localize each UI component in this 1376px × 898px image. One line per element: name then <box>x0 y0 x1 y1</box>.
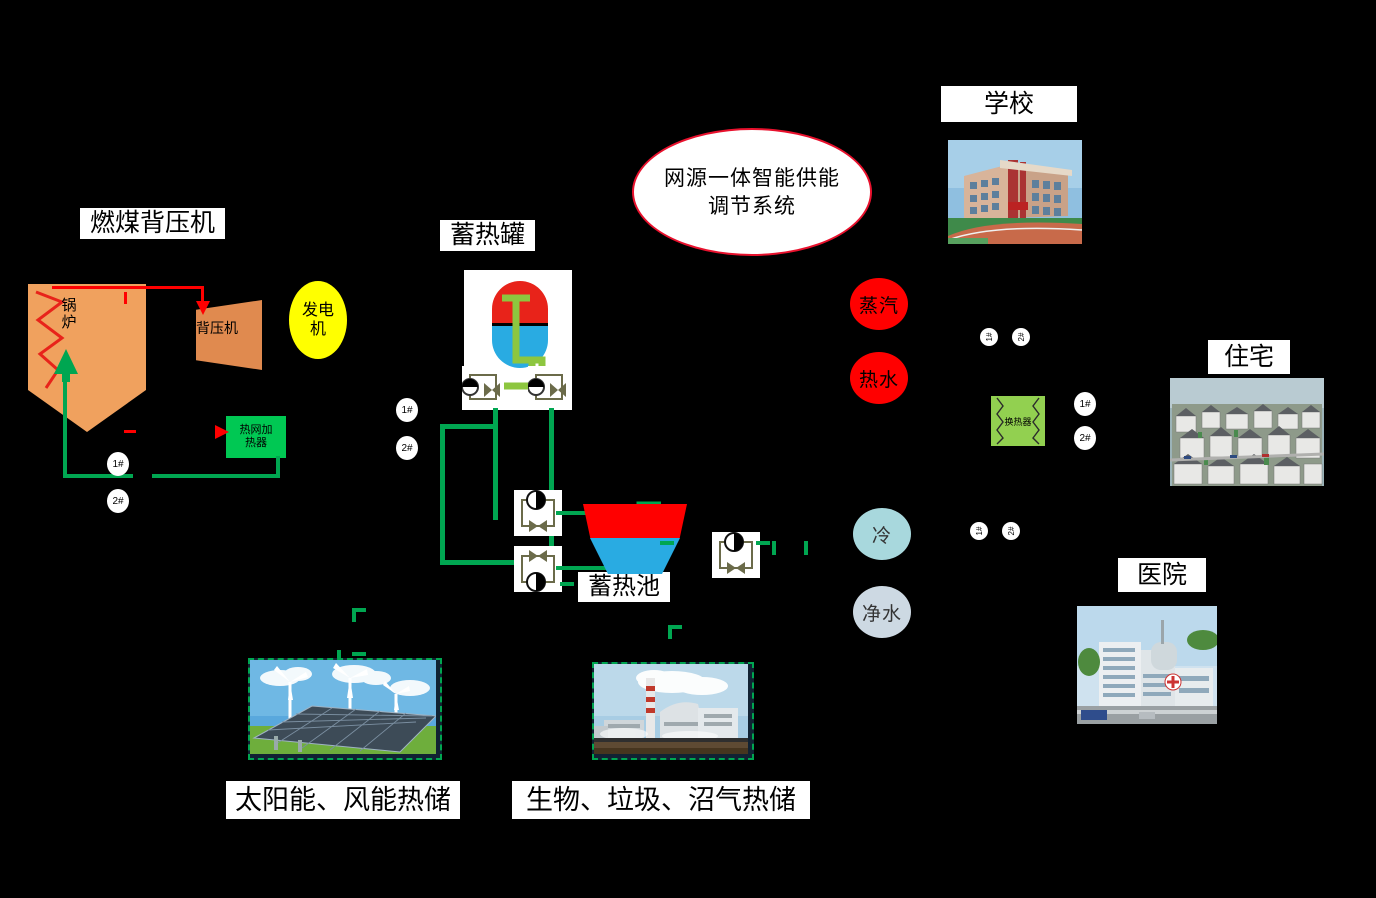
photo-biomass <box>592 662 754 760</box>
pool-pump-valve-upper-icon[interactable] <box>514 490 562 536</box>
heater-label-line-2: 热器 <box>240 437 273 450</box>
source-net-h-biomass <box>668 625 808 629</box>
generator-label-line-1: 发电 <box>302 301 334 320</box>
storage-pool-hot-zone <box>583 504 687 538</box>
node-hx-1[interactable]: 1# <box>1074 392 1096 416</box>
node-tank-2[interactable]: 2# <box>396 436 418 460</box>
tank-pump-valve-left-icon[interactable] <box>462 366 504 410</box>
heater-label-line-1: 热网加 <box>240 424 273 437</box>
pool-outlet-dash-left <box>660 541 716 545</box>
feed-pipe-bottom-right <box>152 474 280 478</box>
node-cold-2[interactable]: 2# <box>1002 522 1020 540</box>
medium-hotwater: 热水 <box>850 352 908 404</box>
heat-network-heater: 热网加 热器 <box>226 416 286 458</box>
label-residential: 住宅 <box>1208 340 1290 374</box>
tank-pipe-left-bus <box>440 424 445 564</box>
extraction-pipe-vertical <box>124 292 127 432</box>
source-net-h-solar-stub <box>352 652 376 656</box>
tank-pipe-to-pool-lower <box>440 560 525 565</box>
source-net-v-left <box>352 608 356 656</box>
medium-steam: 蒸汽 <box>850 278 908 330</box>
label-storage-tank: 蓄热罐 <box>440 220 535 251</box>
source-net-h-bottom <box>352 608 808 612</box>
boiler-hopper <box>28 390 146 432</box>
extraction-pipe-horizontal <box>124 430 220 433</box>
node-hx-2[interactable]: 2# <box>1074 426 1096 450</box>
medium-purewater: 净水 <box>853 586 911 638</box>
medium-cold: 冷 <box>853 508 911 560</box>
source-net-v-right-outer <box>804 541 808 629</box>
source-net-v-right-inner <box>772 541 776 585</box>
photo-school <box>948 140 1082 244</box>
node-plant-2[interactable]: 2# <box>107 489 129 513</box>
label-solar-wind: 太阳能、风能热储 <box>226 781 460 819</box>
generator-ellipse: 发电 机 <box>289 281 347 359</box>
feed-arrow-boiler-icon <box>53 348 79 382</box>
label-biomass: 生物、垃圾、沼气热储 <box>512 781 810 819</box>
label-hospital: 医院 <box>1118 558 1206 592</box>
label-school: 学校 <box>941 86 1077 122</box>
steam-pipe-boiler-top <box>52 286 150 289</box>
system-title-ellipse: 网源一体智能供能 调节系统 <box>632 128 872 256</box>
boiler-label: 锅 炉 <box>52 298 86 333</box>
medium-cold-label: 冷 <box>872 521 892 548</box>
label-coal-backpressure: 燃煤背压机 <box>80 208 225 239</box>
node-steam-2[interactable]: 2# <box>1012 328 1030 346</box>
medium-steam-label: 蒸汽 <box>859 291 899 318</box>
extraction-arrow-icon <box>212 423 230 441</box>
node-plant-1[interactable]: 1# <box>107 452 129 476</box>
label-storage-pool: 蓄热池 <box>578 572 670 602</box>
feed-pipe-heater-riser <box>276 456 280 478</box>
heat-exchanger-label: 换热器 <box>1004 415 1031 428</box>
pool-outlet-pump-icon[interactable] <box>712 532 760 578</box>
node-cold-1[interactable]: 1# <box>970 522 988 540</box>
boiler-label-line-2: 炉 <box>52 315 86 332</box>
photo-hospital <box>1077 606 1217 724</box>
steam-arrow-turbine-icon <box>194 298 212 316</box>
feed-pipe-boiler-riser <box>63 378 67 478</box>
pool-pump-valve-lower-icon[interactable] <box>514 546 562 592</box>
medium-hotwater-label: 热水 <box>859 365 899 392</box>
photo-residential <box>1170 378 1324 486</box>
boiler-label-line-1: 锅 <box>52 298 86 315</box>
system-title-line-2: 调节系统 <box>708 192 796 220</box>
source-net-v-biomass <box>668 625 672 659</box>
medium-purewater-label: 净水 <box>862 599 902 626</box>
tank-pump-valve-right-icon[interactable] <box>528 366 570 410</box>
node-tank-1[interactable]: 1# <box>396 398 418 422</box>
source-net-h-mid <box>560 582 776 586</box>
diagram-canvas: 网源一体智能供能 调节系统 燃煤背压机 蓄热罐 蓄热池 锅 炉 背压机 发电 机… <box>0 0 1376 898</box>
backpressure-turbine-label: 背压机 <box>196 318 284 338</box>
generator-label-line-2: 机 <box>310 320 326 339</box>
heat-exchanger-body: 换热器 <box>991 396 1045 446</box>
tank-pipe-cross-top <box>440 424 498 429</box>
pool-outlet-dash-right <box>756 541 806 545</box>
photo-solar-wind <box>248 658 442 760</box>
system-title-line-1: 网源一体智能供能 <box>664 164 840 192</box>
node-steam-1[interactable]: 1# <box>980 328 998 346</box>
steam-pipe-to-turbine-h <box>147 286 204 289</box>
